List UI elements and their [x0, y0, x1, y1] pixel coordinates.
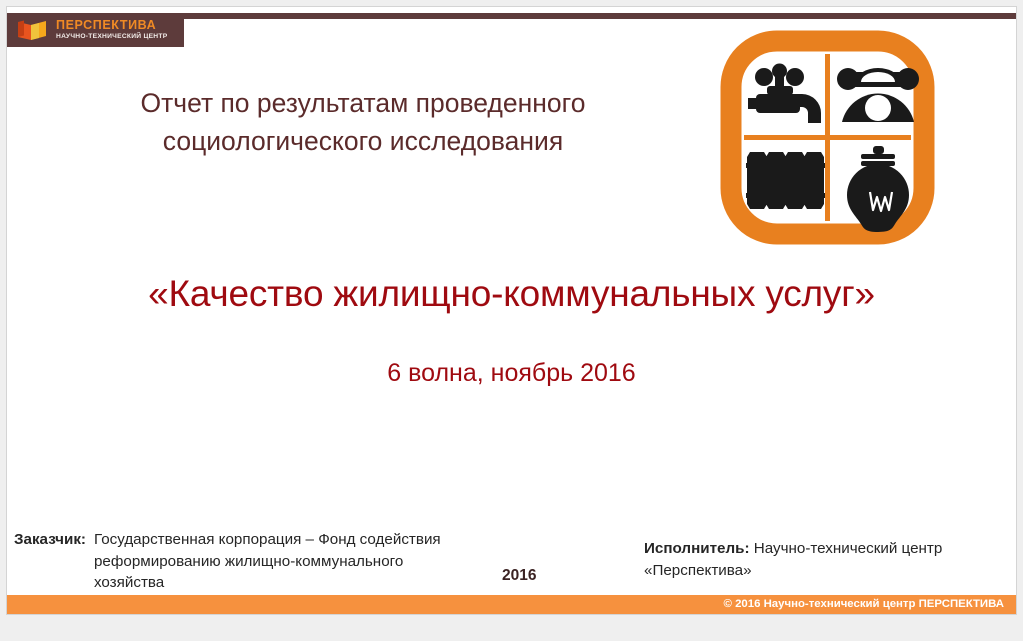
- page-title: «Качество жилищно-коммунальных услуг»: [7, 273, 1016, 315]
- brand-text: ПЕРСПЕКТИВА НАУЧНО-ТЕХНИЧЕСКИЙ ЦЕНТР: [56, 19, 167, 41]
- customer-label: Заказчик:: [14, 529, 86, 551]
- report-headline: Отчет по результатам проведенного социол…: [63, 85, 663, 160]
- utilities-emblem: [720, 30, 935, 245]
- customer-value: Государственная корпорация – Фонд содейс…: [94, 529, 444, 594]
- contractor-label: Исполнитель:: [644, 540, 750, 557]
- brand-subtitle: НАУЧНО-ТЕХНИЧЕСКИЙ ЦЕНТР: [56, 34, 167, 41]
- copyright-text: © 2016 Научно-технический центр ПЕРСПЕКТ…: [724, 595, 1004, 614]
- telephone-icon: [837, 68, 919, 122]
- water-faucet-icon: [748, 64, 821, 124]
- contractor-credit: Исполнитель: Научно-технический центр «П…: [644, 538, 1009, 581]
- brand-name: ПЕРСПЕКТИВА: [56, 19, 167, 32]
- radiator-icon: [746, 152, 825, 209]
- customer-credit: Заказчик: Государственная корпорация – Ф…: [14, 529, 444, 594]
- open-book-icon: [17, 19, 47, 41]
- page-subtitle: 6 волна, ноябрь 2016: [7, 359, 1016, 388]
- slide-year: 2016: [502, 567, 536, 585]
- brand-logo[interactable]: ПЕРСПЕКТИВА НАУЧНО-ТЕХНИЧЕСКИЙ ЦЕНТР: [7, 13, 184, 47]
- presentation-slide: ПЕРСПЕКТИВА НАУЧНО-ТЕХНИЧЕСКИЙ ЦЕНТР Отч…: [7, 7, 1016, 614]
- footer-bar: © 2016 Научно-технический центр ПЕРСПЕКТ…: [7, 595, 1016, 614]
